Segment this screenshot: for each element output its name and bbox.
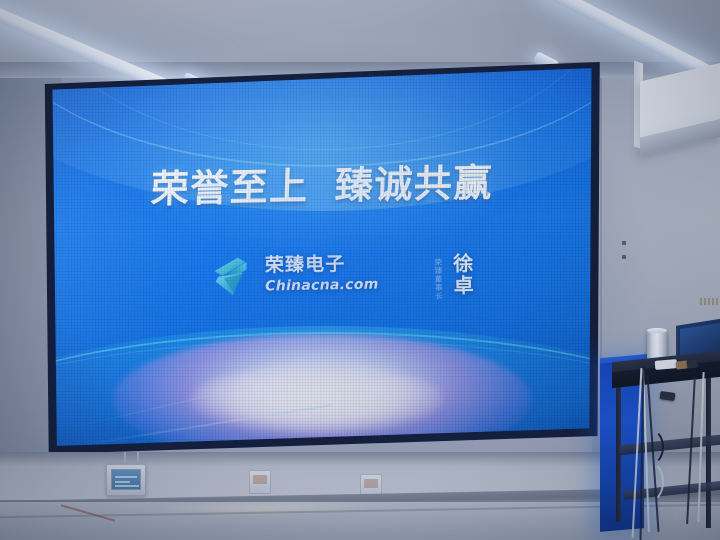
room-scene: 荣誉至上臻诚共赢	[0, 0, 720, 540]
wall-screw-lower	[622, 255, 626, 259]
screen-sheen	[47, 65, 597, 449]
power-adapter	[655, 359, 678, 370]
wall-screw-upper	[622, 241, 626, 245]
cable-loop-2	[630, 460, 664, 504]
white-cylinder-top	[647, 328, 667, 333]
led-wall-display[interactable]: 荣誉至上臻诚共赢	[47, 65, 597, 449]
wall-outlet-center[interactable]	[249, 470, 271, 494]
wall-control-panel[interactable]	[106, 464, 146, 496]
control-panel-screen	[111, 469, 141, 490]
wall-sticker-label	[700, 298, 720, 305]
plug-dark	[687, 359, 699, 368]
desk-leg-right	[706, 366, 711, 528]
